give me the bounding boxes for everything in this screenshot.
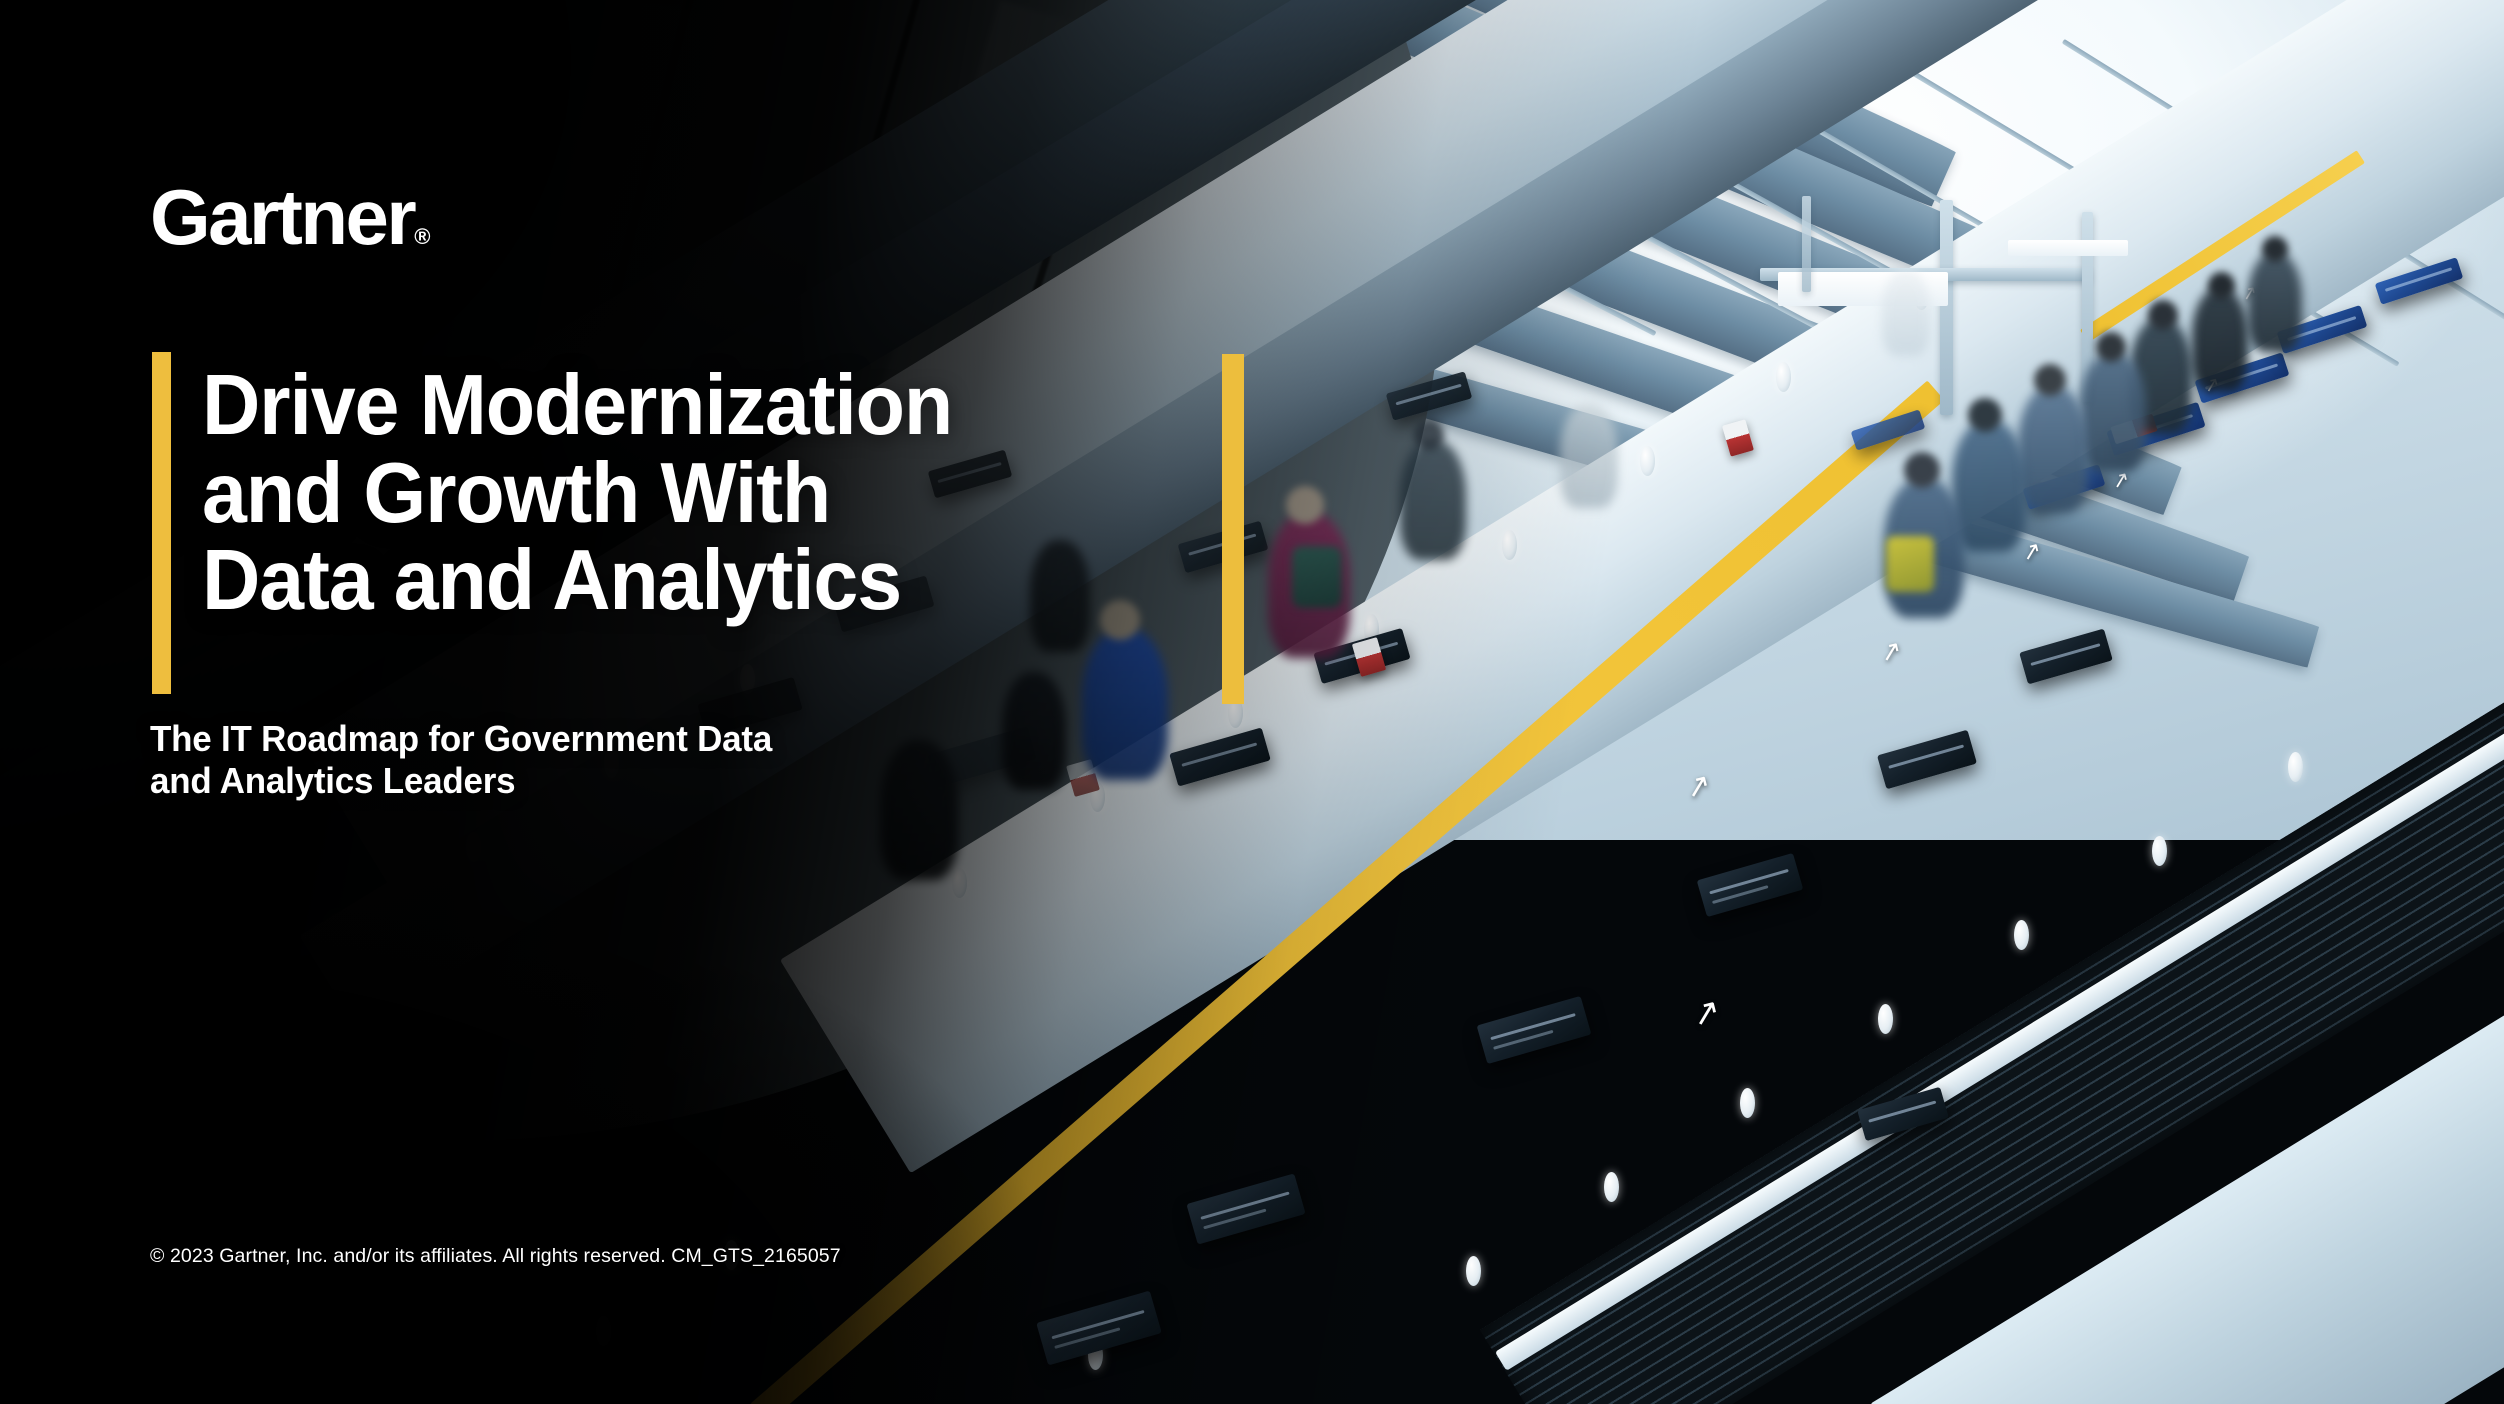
gold-accent-bar-right <box>1222 354 1244 704</box>
gartner-logo: Gartner® <box>150 178 430 256</box>
report-cover-page: ↗ ↗ ↗ ↗ ↗ ↗ ↗ <box>0 0 2504 1404</box>
page-subtitle: The IT Roadmap for Government Data and A… <box>150 718 984 802</box>
page-title: Drive Modernization and Growth With Data… <box>202 362 1162 625</box>
page-title-line-2: and Growth With <box>202 450 1162 538</box>
page-title-line-1: Drive Modernization <box>202 362 1162 450</box>
page-subtitle-line-2: and Analytics Leaders <box>150 760 984 802</box>
page-title-line-3: Data and Analytics <box>202 537 1162 625</box>
copyright-notice: © 2023 Gartner, Inc. and/or its affiliat… <box>150 1245 841 1268</box>
gold-accent-bar-left <box>152 352 171 694</box>
gartner-logo-wordmark: Gartner <box>150 173 414 261</box>
registered-trademark-icon: ® <box>414 224 430 249</box>
cover-content: Gartner® Drive Modernization and Growth … <box>0 0 2504 1404</box>
page-subtitle-line-1: The IT Roadmap for Government Data <box>150 718 984 760</box>
